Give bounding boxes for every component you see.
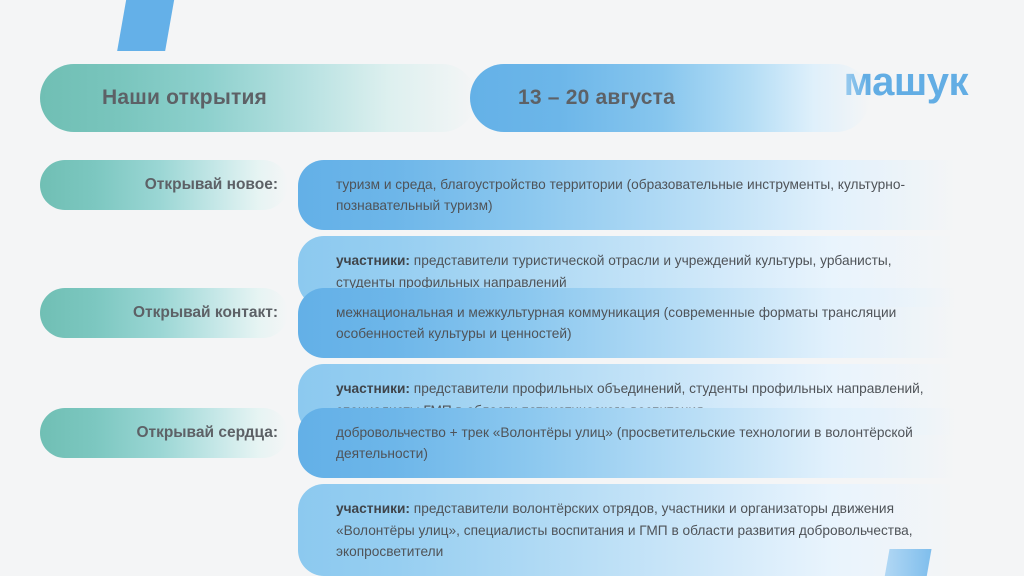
participants-label: участники: xyxy=(336,381,410,396)
section-label: Открывай сердца: xyxy=(136,424,278,442)
participants-text: представители туристической отрасли и уч… xyxy=(336,253,892,289)
topic-pill: туризм и среда, благоустройство территор… xyxy=(298,160,984,230)
topic-pill: добровольчество + трек «Волонтёры улиц» … xyxy=(298,408,984,478)
section-content: добровольчество + трек «Волонтёры улиц» … xyxy=(298,408,984,576)
slide-root: машук Наши открытия 13 – 20 августа Откр… xyxy=(0,0,1024,576)
topic-pill: межнациональная и межкультурная коммуник… xyxy=(298,288,984,358)
date-range-pill: 13 – 20 августа xyxy=(470,64,870,132)
section-content: туризм и среда, благоустройство территор… xyxy=(298,160,984,307)
section-label-pill: Открывай новое: xyxy=(40,160,288,210)
header-row: Наши открытия 13 – 20 августа xyxy=(40,64,984,132)
section-label-pill: Открывай сердца: xyxy=(40,408,288,458)
participants-label: участники: xyxy=(336,501,410,516)
section-label: Открывай новое: xyxy=(145,176,278,194)
participants-text: представители волонтёрских отрядов, учас… xyxy=(336,501,913,558)
page-title-pill: Наши открытия xyxy=(40,64,476,132)
date-range: 13 – 20 августа xyxy=(518,86,675,110)
page-title: Наши открытия xyxy=(102,86,267,110)
section-label-pill: Открывай контакт: xyxy=(40,288,288,338)
decorative-parallelogram-top xyxy=(117,0,175,51)
participants-label: участники: xyxy=(336,253,410,268)
participants-pill: участники: представители волонтёрских от… xyxy=(298,484,984,576)
section-label: Открывай контакт: xyxy=(133,304,278,322)
